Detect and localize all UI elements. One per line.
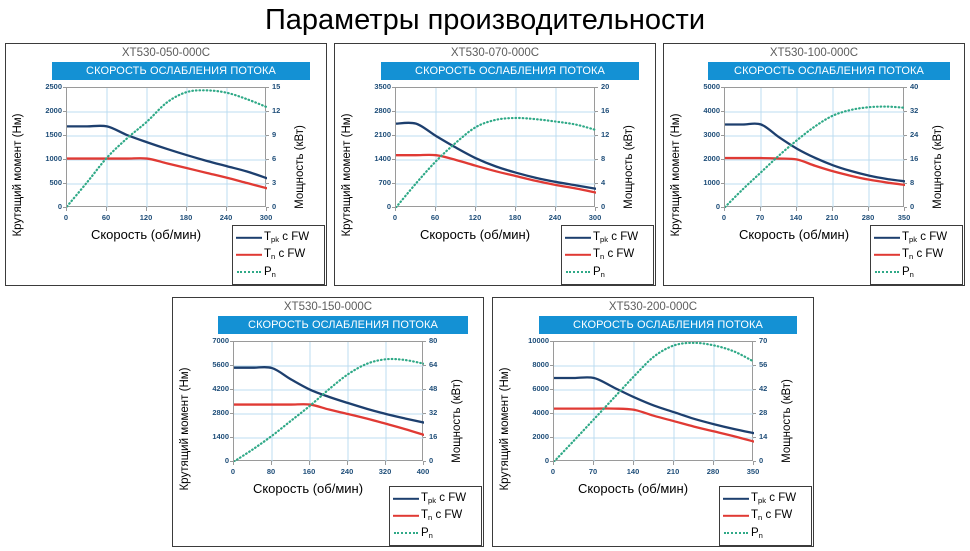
x-axis-title: Скорость (об/мин) [365, 227, 585, 242]
x-axis-tick-mark [515, 207, 516, 211]
chart-title: XT530-200-000C [493, 301, 813, 313]
y-axis-tick-left: 8000 [517, 360, 549, 369]
legend-swatch-torque-nominal [393, 511, 419, 521]
legend-suffix: с FW [766, 492, 796, 504]
x-axis-tick-mark [555, 207, 556, 211]
legend-symbol: T [902, 248, 909, 260]
y-axis-tick-left: 0 [30, 202, 62, 211]
y-axis-tick-mark [721, 159, 724, 160]
legend-swatch-torque-peak [874, 233, 900, 243]
legend-item-torque-peak: Tpk с FW [393, 491, 476, 507]
legend-swatch-torque-peak [723, 494, 749, 504]
legend-swatch-torque-peak [236, 233, 262, 243]
legend-symbol: P [264, 266, 272, 278]
legend-swatch-power-nominal [723, 528, 749, 538]
y-axis-tick-mark [230, 413, 233, 414]
x-axis-title: Скорость (об/мин) [36, 227, 256, 242]
y-axis-title-right: Мощность (кВт) [932, 102, 944, 232]
x-axis-tick-mark [475, 207, 476, 211]
legend-swatch-torque-nominal [874, 250, 900, 260]
y-axis-tick-left: 6000 [517, 384, 549, 393]
y-axis-title-left: Крутящий момент (Нм) [499, 354, 511, 504]
legend-subscript: pk [271, 235, 279, 244]
x-axis-tick-mark [595, 207, 596, 211]
legend-swatch-torque-nominal [565, 250, 591, 260]
x-axis-tick: 210 [659, 467, 687, 476]
legend-item-power-nominal: Pn [723, 525, 806, 541]
x-axis-tick-mark [233, 461, 234, 465]
legend-item-torque-nominal: Tn с FW [565, 247, 648, 263]
legend-swatch-power-nominal [393, 528, 419, 538]
power-curve [396, 118, 596, 207]
legend-symbol: P [421, 527, 429, 539]
y-axis-tick-mark [550, 413, 553, 414]
legend-symbol: P [902, 266, 910, 278]
y-axis-tick-left: 700 [359, 178, 391, 187]
x-axis-tick-mark [266, 207, 267, 211]
y-axis-tick-mark [63, 87, 66, 88]
y-axis-tick-mark [230, 341, 233, 342]
y-axis-title-left: Крутящий момент (Нм) [341, 100, 353, 250]
flux-weakening-banner: СКОРОСТЬ ОСЛАБЛЕНИЯ ПОТОКА [708, 62, 950, 80]
y2-axis-tick-mark [266, 135, 269, 136]
plot-canvas [554, 342, 754, 462]
y-axis-title-left: Крутящий момент (Нм) [12, 100, 24, 250]
x-axis-tick: 0 [710, 213, 738, 222]
legend-subscript: n [909, 252, 913, 261]
y-axis-tick-mark [392, 111, 395, 112]
y-axis-tick-left: 5600 [197, 360, 229, 369]
x-axis-tick-mark [868, 207, 869, 211]
x-axis-tick-mark [760, 207, 761, 211]
legend-symbol: T [421, 492, 428, 504]
chart-panel-xt530-200: XT530-200-000CСКОРОСТЬ ОСЛАБЛЕНИЯ ПОТОКА… [492, 297, 814, 547]
y-axis-tick-left: 2100 [359, 130, 391, 139]
y2-axis-tick-mark [595, 135, 598, 136]
legend-label-power-nominal: Pn [751, 528, 763, 540]
legend-label-torque-nominal: Tn с FW [751, 510, 792, 522]
y2-axis-tick-mark [266, 183, 269, 184]
legend-suffix: с FW [913, 248, 943, 260]
y-axis-tick-right: 20 [601, 82, 627, 91]
x-axis-title: Скорость (об/мин) [694, 227, 894, 242]
x-axis-tick: 240 [212, 213, 240, 222]
plot-canvas [234, 342, 424, 462]
legend-subscript: n [910, 270, 914, 279]
x-axis-tick: 80 [257, 467, 285, 476]
flux-weakening-banner: СКОРОСТЬ ОСЛАБЛЕНИЯ ПОТОКА [539, 316, 797, 334]
legend-suffix: с FW [608, 231, 638, 243]
legend-subscript: pk [428, 496, 436, 505]
x-axis-tick-mark [146, 207, 147, 211]
x-axis-tick-mark [226, 207, 227, 211]
x-axis-tick-mark [713, 461, 714, 465]
plot-canvas [67, 88, 267, 208]
legend-symbol: T [421, 509, 428, 521]
legend-item-torque-peak: Tpk с FW [723, 491, 806, 507]
plot-canvas [725, 88, 905, 208]
plot-area [233, 341, 423, 461]
y-axis-tick-left: 2500 [30, 82, 62, 91]
y2-axis-tick-mark [595, 87, 598, 88]
x-axis-title: Скорость (об/мин) [523, 481, 743, 496]
chart-title: XT530-050-000C [6, 47, 326, 59]
x-axis-tick: 350 [890, 213, 918, 222]
y-axis-tick-mark [63, 111, 66, 112]
y2-axis-tick-mark [753, 413, 756, 414]
flux-weakening-banner: СКОРОСТЬ ОСЛАБЛЕНИЯ ПОТОКА [52, 62, 310, 80]
y-axis-tick-mark [721, 183, 724, 184]
y-axis-tick-left: 4000 [688, 106, 720, 115]
legend-swatch-torque-nominal [723, 511, 749, 521]
y-axis-tick-left: 0 [359, 202, 391, 211]
y-axis-tick-left: 2800 [197, 408, 229, 417]
x-axis-tick: 280 [854, 213, 882, 222]
y-axis-tick-mark [392, 183, 395, 184]
y2-axis-tick-mark [595, 111, 598, 112]
page-title: Параметры производительности [0, 0, 970, 40]
y-axis-tick-left: 1000 [688, 178, 720, 187]
plot-area [395, 87, 595, 207]
y2-axis-tick-mark [753, 437, 756, 438]
legend-item-torque-nominal: Tn с FW [874, 247, 957, 263]
legend-label-torque-nominal: Tn с FW [593, 249, 634, 261]
x-axis-tick-mark [385, 461, 386, 465]
x-axis-tick-mark [423, 461, 424, 465]
y-axis-tick-mark [230, 437, 233, 438]
plot-area [724, 87, 904, 207]
legend-label-torque-nominal: Tn с FW [264, 249, 305, 261]
y-axis-tick-left: 7000 [197, 336, 229, 345]
y2-axis-tick-mark [595, 183, 598, 184]
x-axis-tick: 400 [409, 467, 437, 476]
legend-item-torque-nominal: Tn с FW [236, 247, 319, 263]
y2-axis-tick-mark [904, 111, 907, 112]
y2-axis-tick-mark [753, 365, 756, 366]
legend-symbol: P [593, 266, 601, 278]
legend-subscript: n [272, 270, 276, 279]
y-axis-tick-mark [550, 437, 553, 438]
legend-subscript: n [429, 531, 433, 540]
x-axis-tick: 240 [541, 213, 569, 222]
x-axis-tick: 280 [699, 467, 727, 476]
y-axis-tick-mark [230, 389, 233, 390]
x-axis-tick: 0 [381, 213, 409, 222]
y2-axis-tick-mark [423, 341, 426, 342]
plot-area [66, 87, 266, 207]
x-axis-title: Скорость (об/мин) [203, 481, 413, 496]
chart-panel-xt530-100: XT530-100-000CСКОРОСТЬ ОСЛАБЛЕНИЯ ПОТОКА… [663, 43, 965, 286]
y-axis-tick-mark [392, 87, 395, 88]
chart-legend: Tpk с FWTn с FWPn [870, 225, 963, 285]
chart-legend: Tpk с FWTn с FWPn [561, 225, 654, 285]
chart-panel-xt530-150: XT530-150-000CСКОРОСТЬ ОСЛАБЛЕНИЯ ПОТОКА… [172, 297, 484, 547]
y-axis-title-right: Мощность (кВт) [451, 356, 463, 486]
legend-item-power-nominal: Pn [393, 525, 476, 541]
y2-axis-tick-mark [266, 87, 269, 88]
y-axis-tick-left: 0 [688, 202, 720, 211]
x-axis-tick: 0 [539, 467, 567, 476]
x-axis-tick: 140 [782, 213, 810, 222]
legend-item-torque-nominal: Tn с FW [723, 508, 806, 524]
x-axis-tick: 210 [818, 213, 846, 222]
y-axis-tick-left: 3000 [688, 130, 720, 139]
legend-item-torque-peak: Tpk с FW [874, 230, 957, 246]
power-curve [554, 343, 754, 462]
y2-axis-tick-mark [423, 437, 426, 438]
legend-subscript: pk [600, 235, 608, 244]
x-axis-tick-mark [724, 207, 725, 211]
y-axis-tick-mark [550, 365, 553, 366]
legend-label-torque-nominal: Tn с FW [421, 510, 462, 522]
legend-subscript: n [758, 513, 762, 522]
y-axis-tick-mark [63, 135, 66, 136]
x-axis-tick: 320 [371, 467, 399, 476]
y2-axis-tick-mark [753, 389, 756, 390]
y2-axis-tick-mark [904, 183, 907, 184]
plot-canvas [396, 88, 596, 208]
y-axis-tick-mark [392, 135, 395, 136]
chart-title: XT530-100-000C [664, 47, 964, 59]
y-axis-tick-left: 1400 [359, 154, 391, 163]
legend-swatch-torque-peak [393, 494, 419, 504]
legend-suffix: с FW [604, 248, 634, 260]
y-axis-tick-mark [721, 135, 724, 136]
y-axis-tick-right: 80 [429, 336, 455, 345]
x-axis-tick: 70 [579, 467, 607, 476]
x-axis-tick: 180 [172, 213, 200, 222]
chart-legend: Tpk с FWTn с FWPn [719, 486, 812, 546]
legend-subscript: n [271, 252, 275, 261]
y-axis-tick-left: 5000 [688, 82, 720, 91]
legend-subscript: pk [758, 496, 766, 505]
gridlines [396, 88, 596, 208]
y2-axis-tick-mark [904, 87, 907, 88]
torque-nominal-curve [396, 155, 596, 193]
chart-panel-xt530-050: XT530-050-000CСКОРОСТЬ ОСЛАБЛЕНИЯ ПОТОКА… [5, 43, 327, 286]
y-axis-tick-mark [721, 87, 724, 88]
gridlines [554, 342, 754, 462]
x-axis-tick: 300 [581, 213, 609, 222]
y-axis-tick-left: 4000 [517, 408, 549, 417]
x-axis-tick: 160 [295, 467, 323, 476]
legend-subscript: n [759, 531, 763, 540]
y-axis-tick-left: 2000 [517, 432, 549, 441]
y-axis-title-right: Мощность (кВт) [294, 102, 306, 232]
legend-label-torque-peak: Tpk с FW [593, 232, 638, 244]
y-axis-tick-left: 2000 [688, 154, 720, 163]
x-axis-tick: 0 [219, 467, 247, 476]
legend-symbol: T [751, 492, 758, 504]
y-axis-title-right: Мощность (кВт) [623, 102, 635, 232]
legend-symbol: T [902, 231, 909, 243]
y-axis-tick-left: 2000 [30, 106, 62, 115]
legend-suffix: с FW [275, 248, 305, 260]
legend-subscript: n [601, 270, 605, 279]
y2-axis-tick-mark [904, 135, 907, 136]
legend-swatch-power-nominal [236, 267, 262, 277]
y-axis-title-left: Крутящий момент (Нм) [670, 100, 682, 250]
x-axis-tick-mark [904, 207, 905, 211]
legend-suffix: с FW [279, 231, 309, 243]
legend-swatch-torque-peak [565, 233, 591, 243]
legend-subscript: n [600, 252, 604, 261]
chart-panel-xt530-070: XT530-070-000CСКОРОСТЬ ОСЛАБЛЕНИЯ ПОТОКА… [334, 43, 656, 286]
y2-axis-tick-mark [423, 365, 426, 366]
plot-area [553, 341, 753, 461]
y-axis-tick-left: 500 [30, 178, 62, 187]
y2-axis-tick-mark [753, 341, 756, 342]
legend-subscript: n [428, 513, 432, 522]
x-axis-tick-mark [309, 461, 310, 465]
x-axis-tick-mark [553, 461, 554, 465]
x-axis-tick-mark [347, 461, 348, 465]
y-axis-tick-mark [63, 159, 66, 160]
x-axis-tick: 120 [461, 213, 489, 222]
x-axis-tick-mark [66, 207, 67, 211]
x-axis-tick-mark [435, 207, 436, 211]
legend-symbol: P [751, 527, 759, 539]
x-axis-tick: 60 [92, 213, 120, 222]
legend-item-power-nominal: Pn [565, 264, 648, 280]
y2-axis-tick-mark [904, 159, 907, 160]
y2-axis-tick-mark [423, 413, 426, 414]
legend-symbol: T [751, 509, 758, 521]
x-axis-tick-mark [796, 207, 797, 211]
y-axis-tick-right: 40 [910, 82, 936, 91]
flux-weakening-banner: СКОРОСТЬ ОСЛАБЛЕНИЯ ПОТОКА [381, 62, 639, 80]
legend-item-power-nominal: Pn [874, 264, 957, 280]
x-axis-tick-mark [593, 461, 594, 465]
legend-symbol: T [593, 231, 600, 243]
legend-label-torque-peak: Tpk с FW [264, 232, 309, 244]
legend-suffix: с FW [762, 509, 792, 521]
legend-symbol: T [593, 248, 600, 260]
y2-axis-tick-mark [595, 159, 598, 160]
y-axis-tick-left: 4200 [197, 384, 229, 393]
x-axis-tick: 70 [746, 213, 774, 222]
y-axis-tick-mark [550, 389, 553, 390]
legend-label-power-nominal: Pn [421, 528, 433, 540]
torque-peak-curve [725, 124, 905, 182]
x-axis-tick-mark [753, 461, 754, 465]
y-axis-tick-left: 1400 [197, 432, 229, 441]
legend-label-power-nominal: Pn [902, 267, 914, 279]
torque-nominal-curve [554, 409, 754, 442]
x-axis-tick-mark [106, 207, 107, 211]
x-axis-tick: 180 [501, 213, 529, 222]
y-axis-tick-mark [230, 365, 233, 366]
chart-legend: Tpk с FWTn с FWPn [389, 486, 482, 546]
flux-weakening-banner: СКОРОСТЬ ОСЛАБЛЕНИЯ ПОТОКА [218, 316, 468, 334]
x-axis-tick-mark [673, 461, 674, 465]
y-axis-tick-right: 70 [759, 336, 785, 345]
x-axis-tick: 60 [421, 213, 449, 222]
y-axis-tick-left: 0 [197, 456, 229, 465]
x-axis-tick-mark [395, 207, 396, 211]
legend-swatch-power-nominal [874, 267, 900, 277]
legend-label-torque-peak: Tpk с FW [421, 493, 466, 505]
y-axis-tick-left: 1000 [30, 154, 62, 163]
legend-suffix: с FW [432, 509, 462, 521]
y-axis-tick-right: 15 [272, 82, 298, 91]
x-axis-tick: 350 [739, 467, 767, 476]
legend-label-torque-peak: Tpk с FW [751, 493, 796, 505]
x-axis-tick-mark [832, 207, 833, 211]
chart-title: XT530-150-000C [173, 301, 483, 313]
legend-label-torque-nominal: Tn с FW [902, 249, 943, 261]
legend-label-power-nominal: Pn [593, 267, 605, 279]
chart-title: XT530-070-000C [335, 47, 655, 59]
legend-item-torque-nominal: Tn с FW [393, 508, 476, 524]
y2-axis-tick-mark [266, 159, 269, 160]
performance-parameters-page: Параметры производительности XT530-050-0… [0, 0, 970, 551]
torque-peak-curve [554, 377, 754, 433]
x-axis-tick-mark [186, 207, 187, 211]
legend-label-torque-peak: Tpk с FW [902, 232, 947, 244]
y-axis-tick-left: 2800 [359, 106, 391, 115]
legend-suffix: с FW [917, 231, 947, 243]
legend-swatch-power-nominal [565, 267, 591, 277]
chart-legend: Tpk с FWTn с FWPn [232, 225, 325, 285]
y-axis-tick-left: 0 [517, 456, 549, 465]
y-axis-tick-mark [721, 111, 724, 112]
legend-symbol: T [264, 248, 271, 260]
legend-suffix: с FW [436, 492, 466, 504]
y-axis-tick-mark [63, 183, 66, 184]
y-axis-tick-left: 3500 [359, 82, 391, 91]
y-axis-title-right: Мощность (кВт) [781, 356, 793, 486]
x-axis-tick-mark [633, 461, 634, 465]
legend-item-torque-peak: Tpk с FW [565, 230, 648, 246]
torque-nominal-curve [234, 404, 424, 435]
y-axis-tick-mark [392, 159, 395, 160]
legend-symbol: T [264, 231, 271, 243]
y2-axis-tick-mark [423, 389, 426, 390]
x-axis-tick: 300 [252, 213, 280, 222]
x-axis-tick: 0 [52, 213, 80, 222]
x-axis-tick-mark [271, 461, 272, 465]
legend-item-torque-peak: Tpk с FW [236, 230, 319, 246]
y-axis-tick-left: 10000 [517, 336, 549, 345]
legend-subscript: pk [909, 235, 917, 244]
y2-axis-tick-mark [266, 111, 269, 112]
y-axis-tick-mark [550, 341, 553, 342]
legend-swatch-torque-nominal [236, 250, 262, 260]
y-axis-tick-left: 1500 [30, 130, 62, 139]
x-axis-tick: 120 [132, 213, 160, 222]
legend-item-power-nominal: Pn [236, 264, 319, 280]
x-axis-tick: 140 [619, 467, 647, 476]
x-axis-tick: 240 [333, 467, 361, 476]
y-axis-title-left: Крутящий момент (Нм) [179, 354, 191, 504]
legend-label-power-nominal: Pn [264, 267, 276, 279]
